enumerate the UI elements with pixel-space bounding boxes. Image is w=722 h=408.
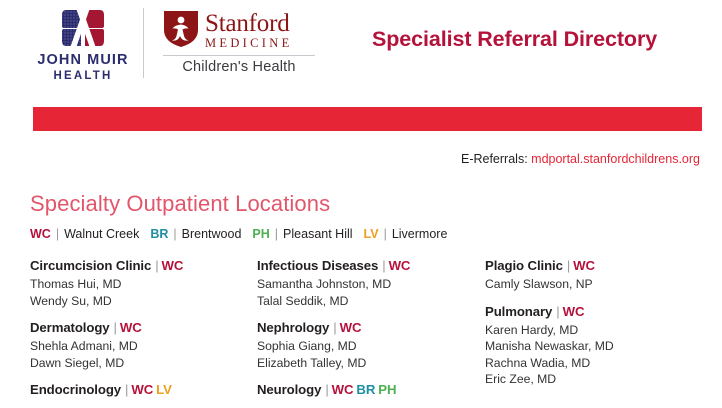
provider-name: Manisha Newaskar, MD (485, 338, 710, 355)
specialty-name: Nephrology (257, 320, 329, 335)
provider-name: Karen Hardy, MD (485, 322, 710, 339)
specialty-name: Neurology (257, 382, 321, 397)
stanford-medicine-shield-icon (163, 10, 199, 48)
specialty-title-pipe: | (155, 258, 158, 273)
specialty-block: Circumcision Clinic|WCThomas Hui, MDWend… (30, 258, 257, 309)
specialty-location-code-wc: WC (573, 258, 595, 273)
specialty-block: Plagio Clinic|WCCamly Slawson, NP (485, 258, 710, 293)
specialty-location-code-wc: WC (340, 320, 362, 335)
red-accent-bar (33, 107, 702, 131)
childrens-health-wordmark: Children's Health (163, 59, 315, 75)
specialty-columns: Circumcision Clinic|WCThomas Hui, MDWend… (30, 258, 710, 408)
john-muir-health-logo: JOHN MUIR HEALTH (28, 8, 138, 84)
specialty-location-code-wc: WC (162, 258, 184, 273)
legend-separator: | (384, 227, 387, 241)
specialty-column-3: Plagio Clinic|WCCamly Slawson, NPPulmona… (485, 258, 710, 408)
legend-city-ph: Pleasant Hill (283, 227, 352, 241)
provider-name: Camly Slawson, NP (485, 276, 710, 293)
specialty-block: Nephrology|WCSophia Giang, MDElizabeth T… (257, 320, 485, 371)
page-title: Specialist Referral Directory (372, 27, 657, 52)
jmh-wordmark: JOHN MUIR (28, 52, 138, 69)
logo-divider (143, 8, 144, 78)
provider-name: Thomas Hui, MD (30, 276, 257, 293)
legend-code-ph: PH (252, 227, 269, 241)
specialty-location-code-wc: WC (389, 258, 411, 273)
specialty-title: Neurology|WCBRPH (257, 382, 485, 397)
specialty-name: Circumcision Clinic (30, 258, 151, 273)
page-header: JOHN MUIR HEALTH Stanford MEDICINE Child… (0, 0, 722, 92)
specialty-name: Pulmonary (485, 304, 552, 319)
specialty-title-pipe: | (567, 258, 570, 273)
location-legend: WC|Walnut CreekBR|BrentwoodPH|Pleasant H… (30, 227, 458, 241)
specialty-block: Pulmonary|WCKaren Hardy, MDManisha Newas… (485, 304, 710, 388)
specialty-name: Plagio Clinic (485, 258, 563, 273)
specialty-location-code-ph: PH (378, 382, 396, 397)
jmh-sub-wordmark: HEALTH (28, 69, 138, 85)
specialty-block: Infectious Diseases|WCSamantha Johnston,… (257, 258, 485, 309)
specialty-block: Dermatology|WCShehla Admani, MDDawn Sieg… (30, 320, 257, 371)
specialty-title: Plagio Clinic|WC (485, 258, 710, 273)
legend-separator: | (275, 227, 278, 241)
provider-name: Rachna Wadia, MD (485, 355, 710, 372)
specialty-title-pipe: | (114, 320, 117, 335)
specialty-name: Endocrinology (30, 382, 121, 397)
specialty-title: Circumcision Clinic|WC (30, 258, 257, 273)
legend-code-lv: LV (364, 227, 379, 241)
legend-city-lv: Livermore (392, 227, 448, 241)
legend-separator: | (173, 227, 176, 241)
section-heading: Specialty Outpatient Locations (30, 191, 330, 217)
legend-city-br: Brentwood (182, 227, 242, 241)
stanford-wordmark: Stanford (205, 11, 293, 36)
e-referrals-label: E-Referrals: (461, 152, 528, 166)
provider-name: Samantha Johnston, MD (257, 276, 485, 293)
specialty-column-2: Infectious Diseases|WCSamantha Johnston,… (257, 258, 485, 408)
specialty-title: Pulmonary|WC (485, 304, 710, 319)
specialty-block: Neurology|WCBRPH (257, 382, 485, 397)
provider-name: Wendy Su, MD (30, 293, 257, 310)
specialty-title: Nephrology|WC (257, 320, 485, 335)
provider-name: Eric Zee, MD (485, 371, 710, 388)
e-referrals-line: E-Referrals: mdportal.stanfordchildrens.… (461, 152, 700, 166)
provider-name: Dawn Siegel, MD (30, 355, 257, 372)
specialty-location-code-wc: WC (332, 382, 354, 397)
specialty-title-pipe: | (325, 382, 328, 397)
legend-city-wc: Walnut Creek (64, 227, 139, 241)
specialty-title-pipe: | (333, 320, 336, 335)
medicine-wordmark: MEDICINE (205, 36, 293, 51)
legend-code-br: BR (150, 227, 168, 241)
specialty-location-code-wc: WC (563, 304, 585, 319)
provider-name: Shehla Admani, MD (30, 338, 257, 355)
specialty-location-code-wc: WC (120, 320, 142, 335)
specialty-title-pipe: | (556, 304, 559, 319)
specialty-location-code-lv: LV (156, 382, 172, 397)
specialty-location-code-br: BR (356, 382, 375, 397)
specialty-column-1: Circumcision Clinic|WCThomas Hui, MDWend… (30, 258, 257, 408)
specialty-title-pipe: | (125, 382, 128, 397)
provider-name: Sophia Giang, MD (257, 338, 485, 355)
specialty-location-code-wc: WC (131, 382, 153, 397)
specialty-title: Infectious Diseases|WC (257, 258, 485, 273)
provider-name: Talal Seddik, MD (257, 293, 485, 310)
stanford-logo-rule (163, 55, 315, 56)
legend-code-wc: WC (30, 227, 51, 241)
specialty-title: Dermatology|WC (30, 320, 257, 335)
e-referrals-link[interactable]: mdportal.stanfordchildrens.org (531, 152, 700, 166)
specialty-title-pipe: | (382, 258, 385, 273)
john-muir-butterfly-mark (58, 8, 108, 48)
specialty-name: Infectious Diseases (257, 258, 378, 273)
specialty-title: Endocrinology|WCLV (30, 382, 257, 397)
legend-separator: | (56, 227, 59, 241)
stanford-medicine-childrens-health-logo: Stanford MEDICINE Children's Health (163, 10, 315, 75)
specialty-name: Dermatology (30, 320, 110, 335)
provider-name: Elizabeth Talley, MD (257, 355, 485, 372)
specialty-block: Endocrinology|WCLV (30, 382, 257, 397)
